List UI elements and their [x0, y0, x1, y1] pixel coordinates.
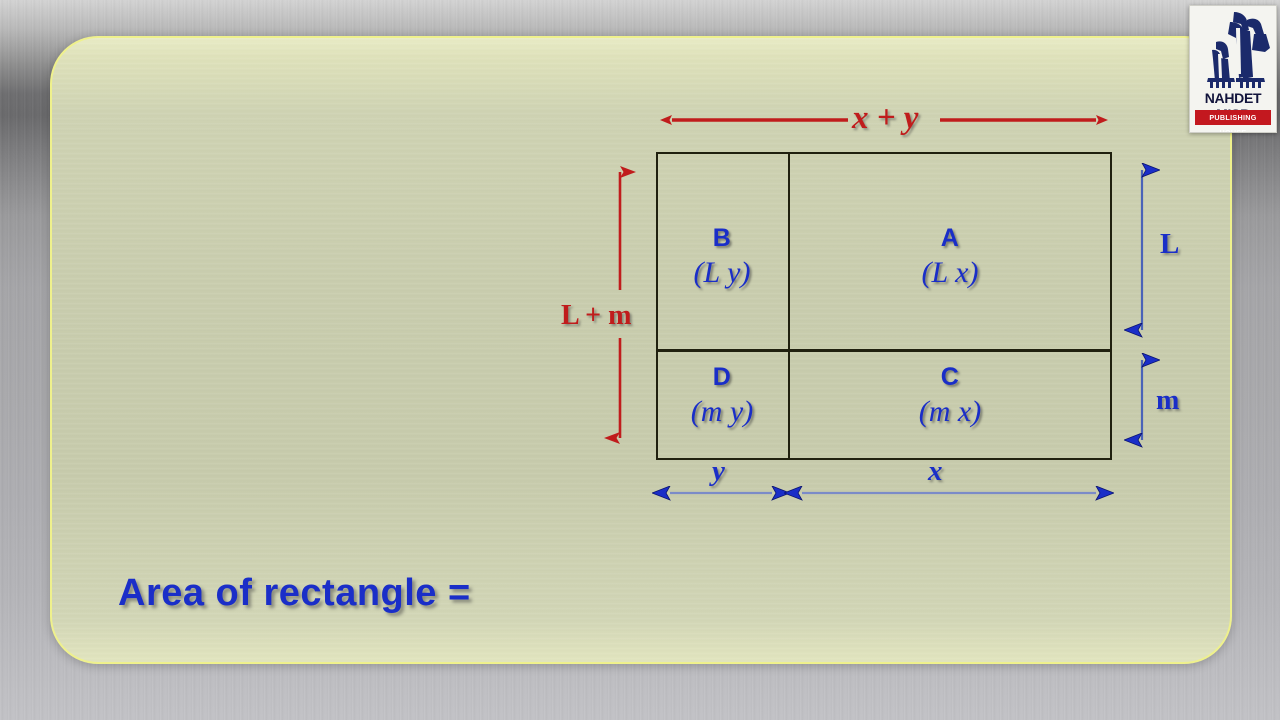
cell-C-tag: C [788, 365, 1112, 390]
slide-canvas: NAHDET MISR PUBLISHING HOUSE [0, 0, 1280, 720]
rectangle-cell-A: A (L x) [788, 226, 1112, 288]
logo-subtitle-text: PUBLISHING HOUSE [1195, 110, 1271, 125]
rectangle-cell-B: B (L y) [656, 226, 788, 288]
cell-B-expression: (L y) [656, 258, 788, 288]
publisher-logo: NAHDET MISR PUBLISHING HOUSE [1189, 5, 1277, 133]
cell-C-expression: (m x) [788, 397, 1112, 427]
woman-with-papyrus-figure-icon [1190, 8, 1276, 92]
cell-A-expression: (L x) [788, 258, 1112, 288]
cell-D-tag: D [656, 365, 788, 390]
cell-A-tag: A [788, 226, 1112, 251]
label-L-plus-m: L + m [561, 300, 631, 332]
rectangle-horizontal-divider [656, 349, 1112, 352]
cell-D-expression: (m y) [656, 397, 788, 427]
area-statement-text: Area of rectangle = [118, 572, 471, 615]
rectangle-cell-D: D (m y) [656, 365, 788, 427]
label-m: m [1156, 385, 1179, 417]
label-L: L [1160, 228, 1179, 261]
label-x: x [928, 455, 943, 488]
label-x-plus-y: x + y [852, 100, 918, 137]
cell-B-tag: B [656, 226, 788, 251]
rectangle-cell-C: C (m x) [788, 365, 1112, 427]
label-y: y [712, 455, 725, 488]
